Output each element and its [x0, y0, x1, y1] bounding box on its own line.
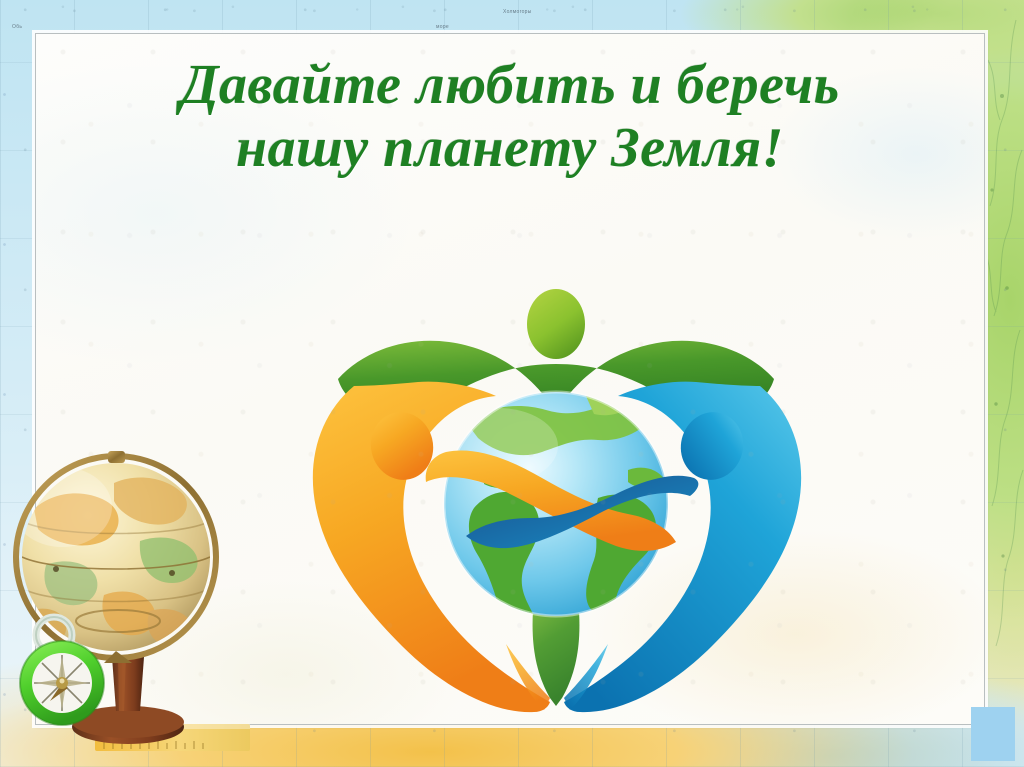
title-line-1: Давайте любить и беречь [36, 54, 984, 117]
logo-svg [298, 246, 818, 716]
map-label: море [436, 24, 449, 30]
blue-selection-rectangle[interactable] [971, 707, 1015, 761]
title-line-2: нашу планету Земля! [36, 117, 984, 180]
green-person-head [527, 289, 585, 359]
map-label: Обь [12, 24, 22, 30]
page-title: Давайте любить и беречь нашу планету Зем… [36, 54, 984, 179]
desk-globe-svg [0, 445, 250, 767]
people-heart-around-globe-logo [298, 246, 818, 716]
map-label: Холмогоры [503, 9, 532, 15]
desk-globe-photo [0, 445, 250, 767]
presentation-slide: Холмогоры море Обь Давайте любить и бере… [0, 0, 1024, 767]
